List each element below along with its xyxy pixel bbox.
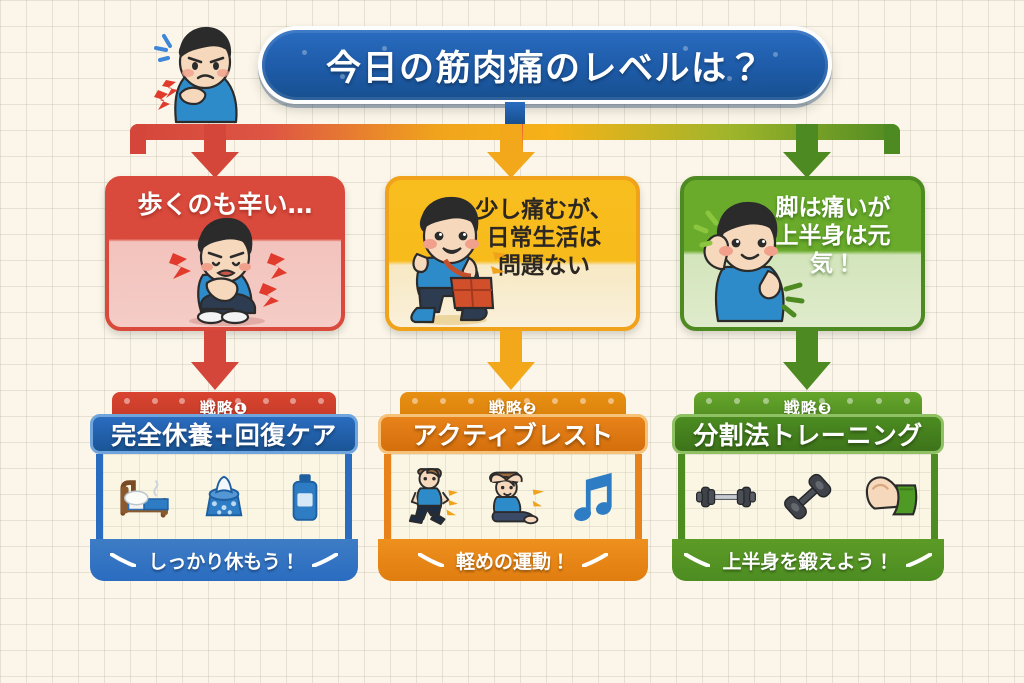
strategy-footer-1: しっかり休もう！: [90, 539, 358, 581]
sparkle-icon: [683, 46, 688, 51]
crouching-sad-boy-illustration-icon: [167, 209, 287, 327]
strategy-footer-label-3: 上半身を鍛えよう！: [722, 547, 893, 574]
supplement-bottle-icon: [274, 466, 336, 528]
music-note-icon: [563, 466, 625, 528]
strategy-banner-label-1: 完全休養+回復ケア: [111, 416, 336, 452]
swoosh-right-icon: [906, 553, 932, 567]
dumbbell-icon: [777, 466, 839, 528]
swoosh-right-icon: [582, 553, 608, 567]
strategy-footer-3: 上半身を鍛えよう！: [672, 539, 944, 581]
option-card-upper-body-ok[interactable]: 脚は痛いが 上半身は元気！: [680, 176, 925, 331]
strategy-icons-row-3: [678, 454, 938, 539]
sparkle-icon: [302, 50, 307, 55]
barbell-icon: [695, 466, 757, 528]
infographic-stage: 今日の筋肉痛のレベルは？ 歩くのも辛い…: [0, 0, 1024, 683]
page-title-banner: 今日の筋肉痛のレベルは？: [258, 26, 832, 104]
flexing-bicep-icon: [859, 466, 921, 528]
down-arrow-yellow-icon: [487, 330, 535, 390]
down-arrow-red-icon: [191, 124, 239, 178]
strategy-banner-3: 分割法トレーニング: [672, 414, 944, 454]
sparkle-icon: [773, 52, 778, 57]
option-card-severe[interactable]: 歩くのも辛い…: [105, 176, 345, 331]
option-card-mild[interactable]: 少し痛むが、 日常生活は 問題ない: [385, 176, 640, 331]
strategy-banner-label-2: アクティブレスト: [412, 416, 613, 452]
strategy-footer-label-1: しっかり休もう！: [148, 547, 299, 574]
strategy-footer-label-2: 軽めの運動！: [456, 547, 570, 574]
strategy-footer-2: 軽めの運動！: [378, 539, 648, 581]
strategy-icons-row-1: [96, 454, 352, 539]
swoosh-left-icon: [684, 553, 710, 567]
swoosh-left-icon: [110, 553, 136, 567]
flexing-boy-illustration-icon: [690, 193, 810, 325]
branch-corner-left: [130, 124, 146, 154]
branch-corner-right: [884, 124, 900, 154]
sparkle-icon: [382, 46, 387, 51]
page-title: 今日の筋肉痛のレベルは？: [326, 40, 764, 91]
sore-shoulder-character-icon: [150, 18, 260, 126]
down-arrow-green-icon: [783, 330, 831, 390]
strategy-card-active-rest[interactable]: 戦略❷ アクティブレスト: [378, 392, 648, 582]
sparkle-icon: [340, 74, 345, 79]
swoosh-right-icon: [312, 553, 338, 567]
sparkle-icon: [727, 76, 732, 81]
bed-icon: [112, 466, 174, 528]
strategy-card-complete-rest[interactable]: 戦略❶ 完全休養+回復ケア: [90, 392, 358, 582]
down-arrow-green-icon: [783, 124, 831, 178]
strategy-banner-2: アクティブレスト: [378, 414, 648, 454]
ice-pack-icon: [193, 466, 255, 528]
walking-boy-with-bag-illustration-icon: [393, 192, 511, 327]
title-connector-stem: [505, 102, 525, 124]
strategy-icons-row-2: [384, 454, 642, 539]
strategy-card-split-training[interactable]: 戦略❸ 分割法トレーニング: [672, 392, 944, 582]
down-arrow-yellow-icon: [487, 124, 535, 178]
stretching-person-icon: [482, 466, 544, 528]
swoosh-left-icon: [418, 553, 444, 567]
strategy-banner-1: 完全休養+回復ケア: [90, 414, 358, 454]
walking-person-icon: [401, 466, 463, 528]
strategy-banner-label-3: 分割法トレーニング: [693, 416, 923, 452]
down-arrow-red-icon: [191, 330, 239, 390]
